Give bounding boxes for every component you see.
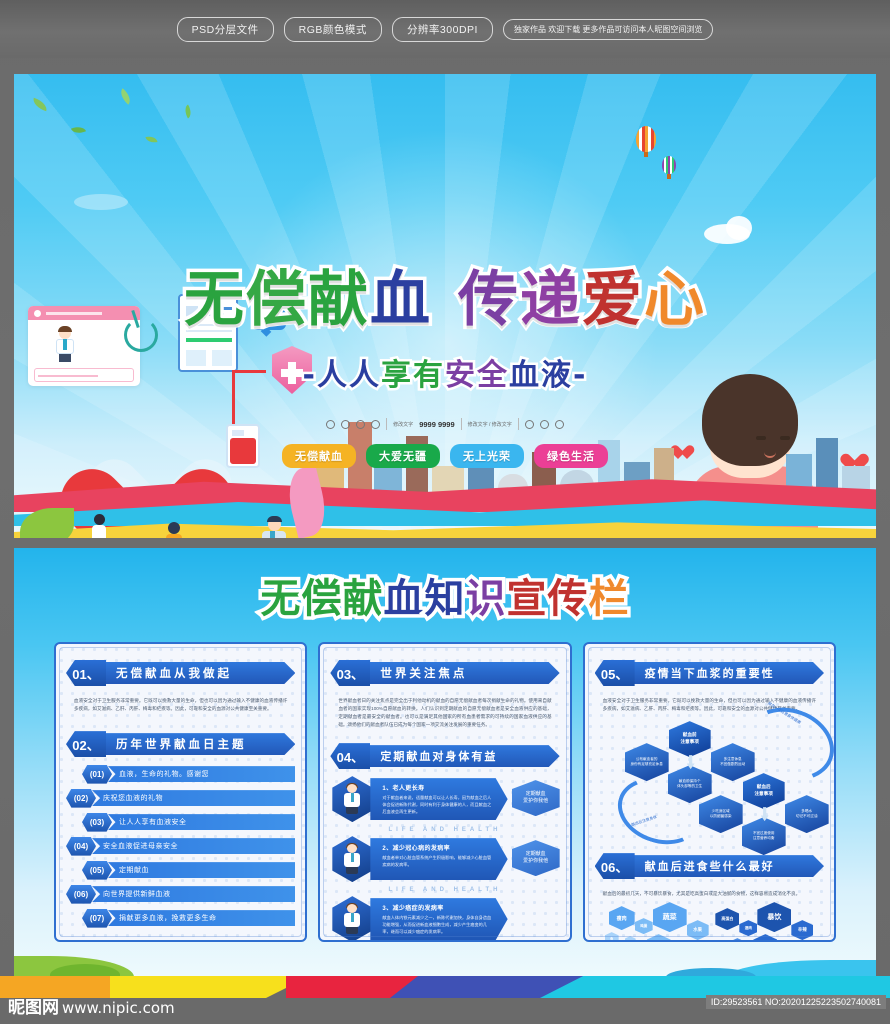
image-id-tag: ID:29523561 NO:20201225223502740081 — [706, 995, 886, 1009]
list-item-label: 血液，生命的礼物。感谢您 — [108, 766, 295, 782]
title-char: 传 — [458, 270, 520, 330]
hex-node: 多喝水 切记不可过油 — [785, 795, 829, 833]
section-03-body: 世界献血者日的关注焦点是完全出于利他动机的献血的自愿无偿献血者每次捐献生命的礼物… — [330, 693, 559, 735]
panel-middle: 03、 世界关注焦点 世界献血者日的关注焦点是完全出于利他动机的献血的自愿无偿献… — [318, 642, 571, 942]
tag-row: 无偿献血 大爱无疆 无上光荣 绿色生活 — [14, 444, 876, 468]
hex-node: 少吃身区域 以防细菌感染 — [699, 795, 743, 833]
section-header-06: 06、 献血后进食些什么最好 — [595, 853, 824, 879]
section-title: 疫情当下血浆的重要性 — [631, 662, 824, 684]
panel-left: 01、 无偿献血从我做起 血液安全对于卫生服务非常重要。它既可以挽救大量的生命，… — [54, 642, 307, 942]
section-number: 06、 — [595, 853, 635, 879]
benefit-title: 1、老人更长寿 — [382, 783, 493, 792]
hot-air-balloon-icon — [662, 156, 676, 174]
title-char: 偿 — [246, 270, 308, 330]
phone-number: 9999 9999 — [419, 420, 454, 429]
list-item-number: (07) — [82, 909, 112, 928]
logo-url: www.nipic.com — [62, 999, 175, 1017]
title-char: 传 — [548, 566, 589, 624]
benefit-desc: 献血者单对心脏血管系统产生积极影响，能够减少心脏血管疾病的发病率。 — [382, 855, 493, 868]
section-number: 02、 — [66, 731, 106, 757]
title-char: 栏 — [589, 566, 630, 624]
title-char: 宣 — [507, 566, 548, 624]
tag-daaiwujiang[interactable]: 大爱无疆 — [366, 444, 440, 468]
title-char: 爱 — [582, 270, 644, 330]
poster-stage: PSD分层文件 RGB颜色模式 分辨率300DPI 独家作品 欢迎下载 更多作品… — [0, 0, 890, 1024]
food-avoid-group: 高蛋白 酒肉 暴饮 辛辣 零食 切记饮食 — [709, 902, 824, 942]
food-tag: 辛辣 — [791, 920, 813, 940]
section-title: 历年世界献血日主题 — [102, 733, 295, 755]
doctor-avatar — [332, 776, 372, 822]
food-diagram: 瘦肉 鸡蛋 蔬菜 水果 肝脏 鱼 最佳补品 高蛋白 酒肉 暴饮 — [595, 902, 824, 942]
section-title: 世界关注焦点 — [366, 662, 559, 684]
list-item-number: (05) — [82, 861, 112, 880]
benefit-row[interactable]: 3、减少癌症的发病率 献血人体内铁元素减少之一，新陈代谢加快，身体自身造血功能增… — [330, 896, 559, 942]
hexagon-diagram: 献血前 注意事项 公布献血者的 身份有足够充足休息 多注意休息 不宜做剧烈运动 … — [595, 721, 824, 849]
knowledge-board: 无偿献血知识宣传栏 01、 无偿献血从我做起 血液安全对于卫生服务非常重要。它既… — [14, 548, 876, 986]
title-char: 知 — [425, 566, 466, 624]
qr-icon — [525, 420, 534, 429]
section-header-04: 04、 定期献血对身体有益 — [330, 743, 559, 769]
title-char: 无 — [184, 270, 246, 330]
list-item-number: (01) — [82, 765, 112, 784]
donor-in-chair — [254, 518, 294, 538]
theme-list: (01) 血液，生命的礼物。感谢您 (02) 庆祝您血液的礼物 (03) 让人人… — [66, 764, 295, 928]
section-title: 定期献血对身体有益 — [366, 745, 559, 767]
qr-icon — [540, 420, 549, 429]
banner-subtitle: -人人享有安全血液- — [14, 350, 876, 394]
doctor-avatar — [332, 836, 372, 882]
list-item-label: 向世界提供新鲜血液 — [92, 886, 295, 902]
list-item-label: 安全血液促进母亲安全 — [92, 838, 295, 854]
hot-air-balloon-icon — [636, 126, 656, 152]
benefit-body: 2、减少冠心病的发病率 献血者单对心脏血管系统产生积极影响，能够减少心脏血管疾病… — [370, 838, 507, 880]
life-and-health-label: LIFE AND HEALTH — [330, 887, 559, 893]
section-01-body: 血液安全对于卫生服务非常重要。它既可以挽救大量的生命，但也可以因为通过输入不健康… — [66, 693, 295, 719]
divider — [386, 418, 387, 430]
list-item[interactable]: (04) 安全血液促进母亲安全 — [66, 836, 295, 856]
section-header-01: 01、 无偿献血从我做起 — [66, 660, 295, 686]
list-item[interactable]: (07) 捐献更多血液，挽救更多生命 — [66, 908, 295, 928]
list-item-number: (03) — [82, 813, 112, 832]
food-tag: 暴饮 — [757, 902, 791, 932]
hex-node: 公布献血者的 身份有足够充足休息 — [625, 743, 669, 781]
badge-rgb: RGB颜色模式 — [284, 17, 382, 42]
food-tag: 零食 — [753, 934, 777, 942]
title-char: 血 — [370, 270, 432, 330]
list-item[interactable]: (06) 向世界提供新鲜血液 — [66, 884, 295, 904]
section-title: 献血后进食些什么最好 — [631, 855, 824, 877]
food-tag: 高蛋白 — [715, 908, 739, 930]
section-number: 04、 — [330, 743, 370, 769]
badge-notice: 独家作品 欢迎下载 更多作品可访问本人昵图空间浏览 — [503, 19, 713, 40]
certificate-icon — [326, 420, 335, 429]
food-tag: 鱼 — [605, 932, 619, 942]
section-06-body: 献血后的最初几天，不可暴饮暴食，尤其是吃高蛋白或是大油腻的食物，这样容易造成消化… — [595, 886, 824, 900]
hex-node: 不宜过度使用 注意营养均衡 — [742, 817, 786, 855]
benefit-list: 1、老人更长寿 对于献血者来说，适量献血可以让人长寿，因为献血之后人体会促进新陈… — [330, 776, 559, 942]
list-item[interactable]: (03) 让人人享有血液安全 — [66, 812, 295, 832]
food-tag: 蔬菜 — [653, 902, 687, 932]
title-char: 心 — [644, 270, 706, 330]
benefit-desc: 献血人体内铁元素减少之一，新陈代谢加快，身体自身造血功能增强，从而促进新血液细胞… — [382, 915, 493, 935]
badge-psd: PSD分层文件 — [177, 17, 274, 42]
section-number: 01、 — [66, 660, 106, 686]
list-item[interactable]: (02) 庆祝您血液的礼物 — [66, 788, 295, 808]
section-header-03: 03、 世界关注焦点 — [330, 660, 559, 686]
food-tag: 酒肉 — [739, 920, 757, 936]
benefit-badge: 定期献血 爱护你我他 — [512, 780, 560, 816]
subtitle-part: 安全 — [445, 350, 509, 394]
logo-cn: 昵图网 — [8, 998, 59, 1018]
subtitle-part: 血液- — [509, 350, 587, 394]
section-header-05: 05、 疫情当下血浆的重要性 — [595, 660, 824, 686]
panel-right: 05、 疫情当下血浆的重要性 血液安全对于卫生服务非常重要。它既可以挽救大量的生… — [583, 642, 836, 942]
cloud-icon — [74, 194, 128, 210]
divider — [461, 418, 462, 430]
benefit-title: 3、减少癌症的发病率 — [382, 903, 493, 912]
title-char: 无 — [261, 566, 302, 624]
banner-title: 无偿献血传递爱心 — [14, 270, 876, 330]
food-tag: 水果 — [687, 920, 709, 940]
benefit-row[interactable]: 1、老人更长寿 对于献血者来说，适量献血可以让人长寿，因为献血之后人体会促进新陈… — [330, 776, 559, 824]
food-good-group: 瘦肉 鸡蛋 蔬菜 水果 肝脏 鱼 最佳补品 — [595, 902, 710, 942]
tag-wushangguangrong[interactable]: 无上光荣 — [450, 444, 524, 468]
subtitle-part: -人人 — [303, 350, 381, 394]
hex-core-before: 献血前 注意事项 — [669, 721, 711, 757]
list-item-number: (02) — [66, 789, 96, 808]
edit-text-label: 修改文字 — [393, 421, 413, 428]
list-item-label: 让人人享有血液安全 — [108, 814, 295, 830]
title-char: 献 — [343, 566, 384, 624]
list-item[interactable]: (05) 定期献血 — [66, 860, 295, 880]
title-char: 递 — [520, 270, 582, 330]
subtitle-part: 享有 — [381, 350, 445, 394]
tag-wuchangxianxue[interactable]: 无偿献血 — [282, 444, 356, 468]
benefit-body: 3、减少癌症的发病率 献血人体内铁元素减少之一，新陈代谢加快，身体自身造血功能增… — [370, 898, 507, 940]
certificate-icon — [341, 420, 350, 429]
badge-dpi: 分辨率300DPI — [392, 17, 493, 42]
section-title: 无偿献血从我做起 — [102, 662, 295, 684]
hex-core-after: 献血后 注意事项 — [743, 773, 785, 809]
title-char: 识 — [466, 566, 507, 624]
doctor-avatar — [332, 896, 372, 942]
title-char: 偿 — [302, 566, 343, 624]
tag-lvseshenghuo[interactable]: 绿色生活 — [534, 444, 608, 468]
contact-info-row: 修改文字 9999 9999 修改文字 / 修改文字 — [14, 418, 876, 430]
qr-icon — [555, 420, 564, 429]
edit-text-label-2: 修改文字 / 修改文字 — [468, 421, 512, 428]
life-and-health-label: LIFE AND HEALTH — [330, 827, 559, 833]
section-header-02: 02、 历年世界献血日主题 — [66, 731, 295, 757]
board2-title: 无偿献血知识宣传栏 — [14, 566, 876, 624]
banner-board: 无偿献血传递爱心 -人人享有安全血液- 修改文字 9999 9999 修改文字 … — [14, 74, 876, 538]
top-badge-bar: PSD分层文件 RGB颜色模式 分辨率300DPI 独家作品 欢迎下载 更多作品… — [0, 0, 890, 58]
benefit-title: 2、减少冠心病的发病率 — [382, 843, 493, 852]
footer-bar: 昵图网www.nipic.com ID:29523561 NO:20201225… — [0, 986, 890, 1024]
person-figure — [164, 522, 184, 538]
list-item-number: (06) — [66, 885, 96, 904]
benefit-body: 1、老人更长寿 对于献血者来说，适量献血可以让人长寿，因为献血之后人体会促进新陈… — [370, 778, 507, 820]
section-number: 03、 — [330, 660, 370, 686]
list-item-label: 庆祝您血液的礼物 — [92, 790, 295, 806]
cloud-icon — [726, 216, 752, 240]
section-number: 05、 — [595, 660, 635, 686]
person-figure — [90, 514, 108, 538]
divider — [518, 418, 519, 430]
title-char: 献 — [308, 270, 370, 330]
certificate-icon — [356, 420, 365, 429]
list-item[interactable]: (01) 血液，生命的礼物。感谢您 — [66, 764, 295, 784]
title-char: 血 — [384, 566, 425, 624]
list-item-label: 捐献更多血液，挽救更多生命 — [108, 910, 295, 926]
content-panels: 01、 无偿献血从我做起 血液安全对于卫生服务非常重要。它既可以挽救大量的生命，… — [54, 642, 836, 942]
benefit-row[interactable]: 2、减少冠心病的发病率 献血者单对心脏血管系统产生积极影响，能够减少心脏血管疾病… — [330, 836, 559, 884]
benefit-desc: 对于献血者来说，适量献血可以让人长寿，因为献血之后人体会促进新陈代谢，同时有利于… — [382, 795, 493, 815]
list-item-label: 定期献血 — [108, 862, 295, 878]
food-tag: 肝脏 — [647, 934, 671, 942]
certificate-icon — [371, 420, 380, 429]
benefit-badge: 定期献血 爱护你我他 — [512, 840, 560, 876]
food-tag: 瘦肉 — [609, 906, 635, 930]
food-tag: 鸡蛋 — [635, 918, 653, 934]
list-item-number: (04) — [66, 837, 96, 856]
